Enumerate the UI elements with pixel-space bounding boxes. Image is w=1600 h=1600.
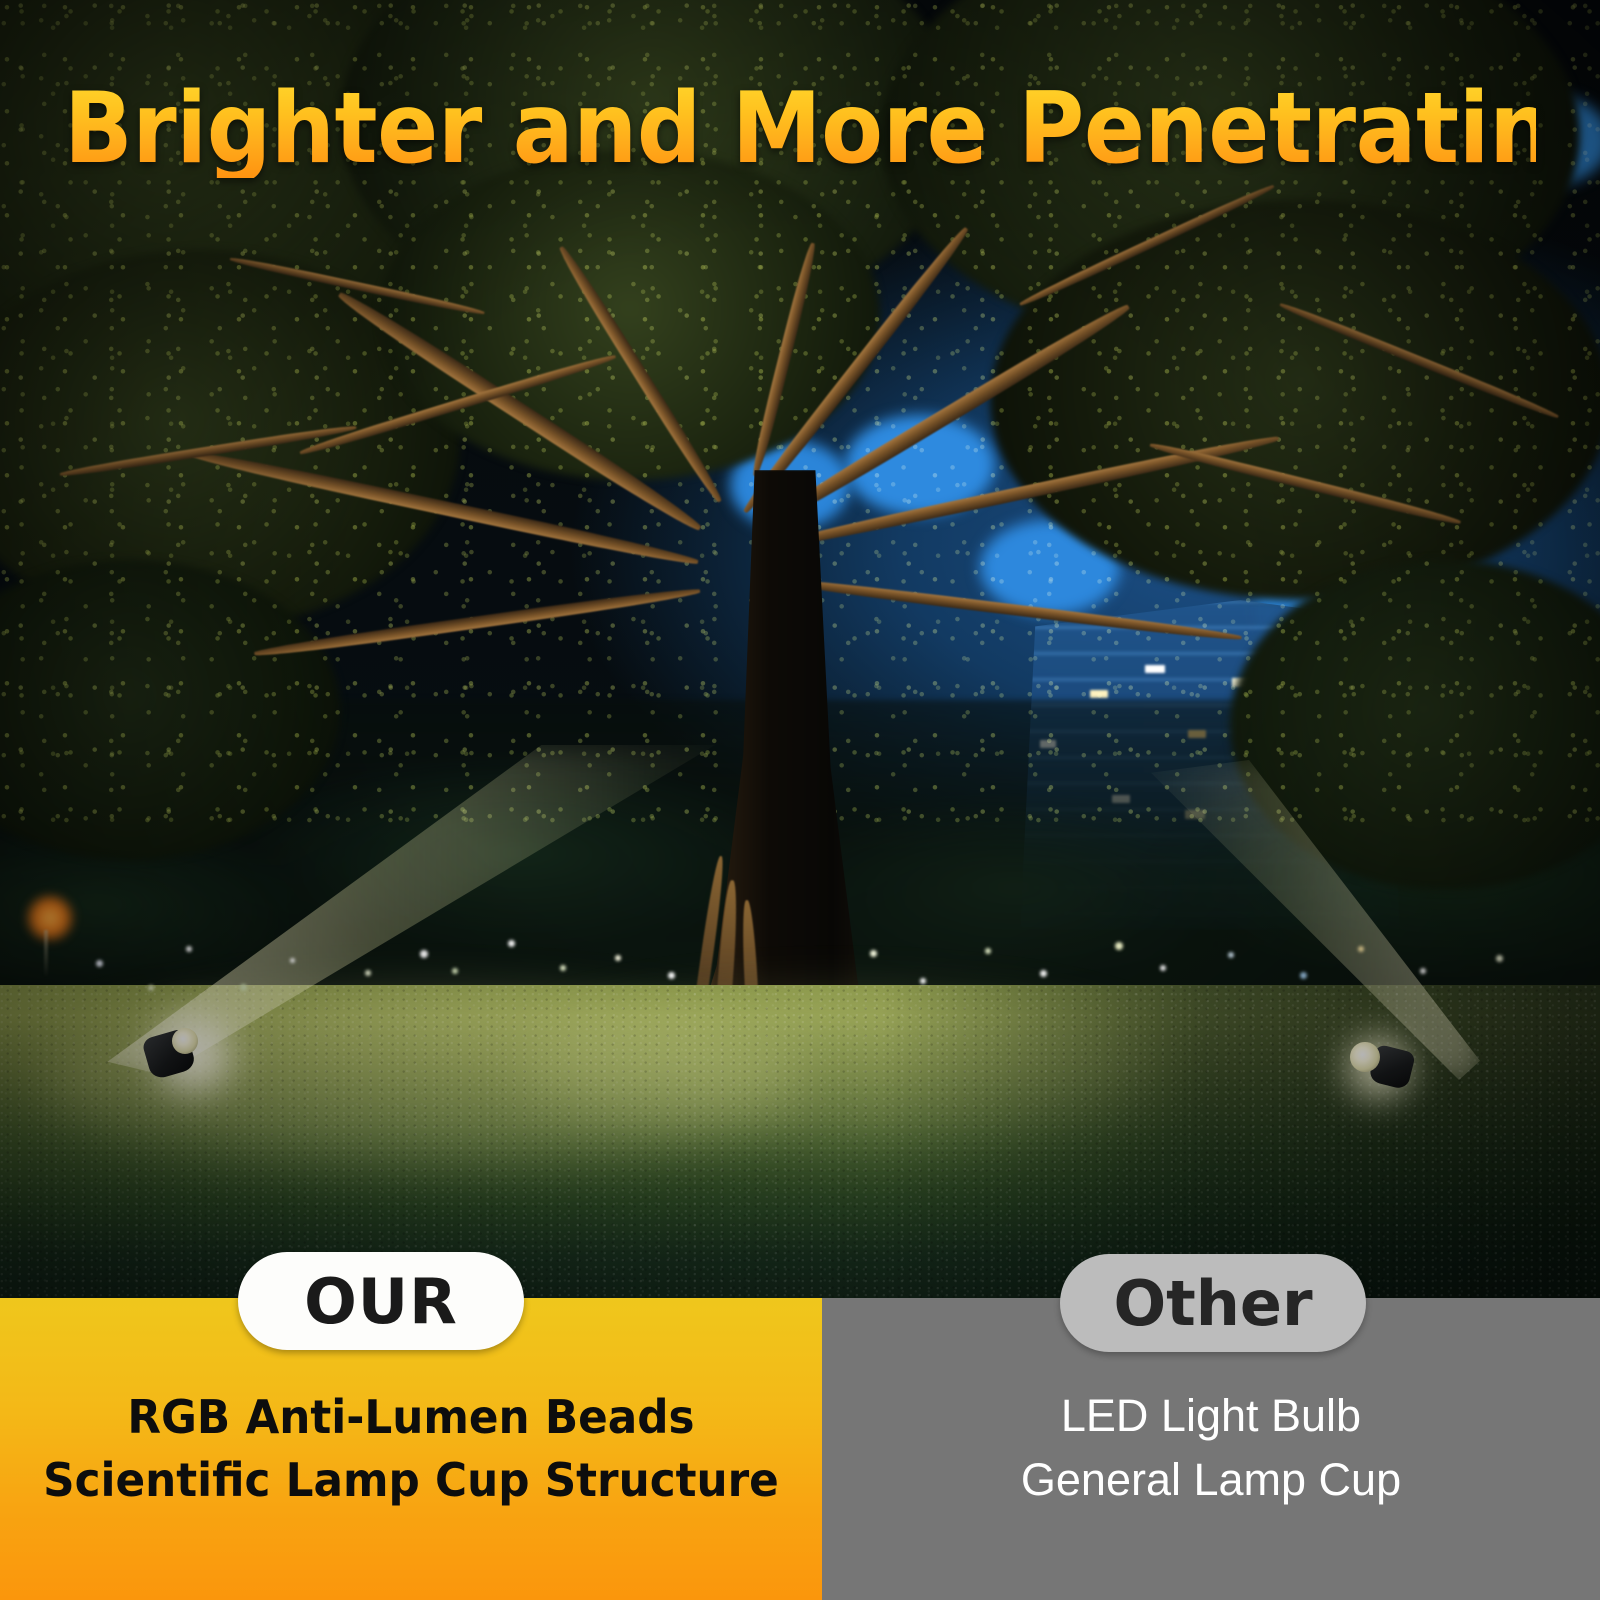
distant-light bbox=[1228, 952, 1234, 958]
distant-light bbox=[290, 958, 295, 963]
distant-light bbox=[508, 940, 515, 947]
badge-other: Other bbox=[1060, 1254, 1366, 1352]
distant-light bbox=[1115, 942, 1123, 950]
distant-light bbox=[985, 948, 991, 954]
distant-light bbox=[96, 960, 103, 967]
other-feature-line-1: LED Light Bulb bbox=[822, 1384, 1600, 1448]
distant-light bbox=[186, 946, 192, 952]
other-feature-list: LED Light Bulb General Lamp Cup bbox=[822, 1384, 1600, 1512]
spotlight-lens-right bbox=[1350, 1042, 1380, 1072]
night-scene-photo bbox=[0, 0, 1600, 1302]
badge-our: OUR bbox=[238, 1252, 524, 1350]
distant-light bbox=[240, 984, 247, 991]
distant-light bbox=[1300, 972, 1307, 979]
our-feature-list: RGB Anti-Lumen Beads Scientific Lamp Cup… bbox=[21, 1386, 802, 1513]
page-title: Brighter and More Penetrating bbox=[64, 80, 1536, 178]
distant-light bbox=[365, 970, 371, 976]
distant-light bbox=[560, 965, 566, 971]
comparison-panels: RGB Anti-Lumen Beads Scientific Lamp Cup… bbox=[0, 1298, 1600, 1600]
distant-light bbox=[870, 950, 877, 957]
distant-light bbox=[668, 972, 675, 979]
distant-light bbox=[920, 978, 926, 984]
distant-light bbox=[452, 968, 458, 974]
our-feature-line-1: RGB Anti-Lumen Beads bbox=[21, 1386, 802, 1449]
distant-light bbox=[1496, 955, 1503, 962]
distant-light bbox=[420, 950, 428, 958]
distant-light bbox=[148, 985, 154, 991]
distant-light bbox=[615, 955, 621, 961]
spotlight-lens-left bbox=[172, 1028, 198, 1054]
distant-light bbox=[1420, 968, 1426, 974]
street-lamp-glow bbox=[22, 893, 78, 943]
distant-light bbox=[1358, 946, 1364, 952]
distant-light bbox=[1160, 965, 1166, 971]
other-feature-line-2: General Lamp Cup bbox=[822, 1448, 1600, 1512]
our-feature-line-2: Scientific Lamp Cup Structure bbox=[21, 1449, 802, 1512]
street-lamp-pole bbox=[44, 930, 48, 976]
product-comparison-poster: Brighter and More Penetrating RGB Anti-L… bbox=[0, 0, 1600, 1600]
distant-light bbox=[1040, 970, 1047, 977]
